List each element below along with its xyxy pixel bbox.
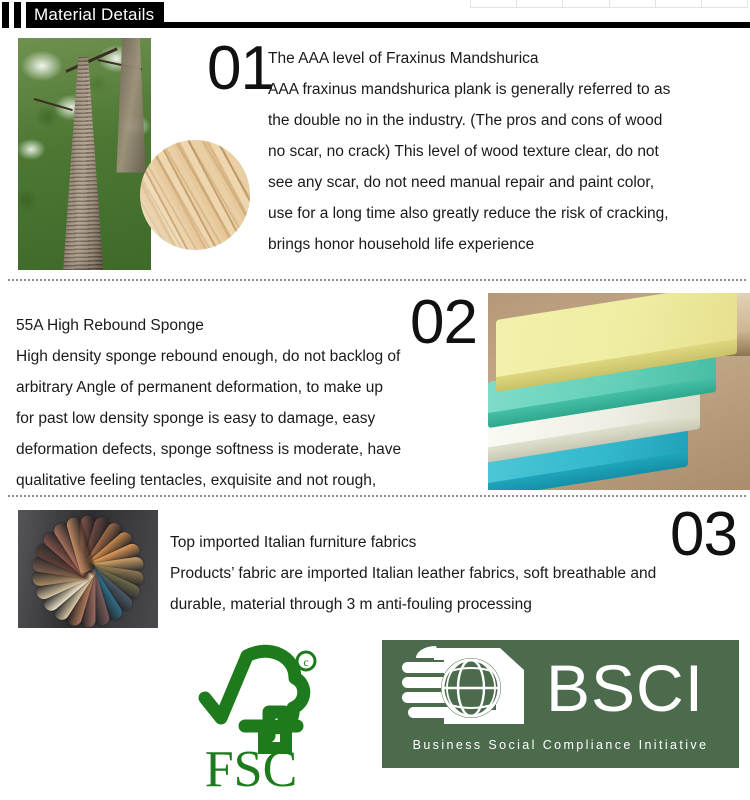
block-01-line-2: the double no in the industry. (The pros… [268,105,662,136]
block-02-line-3: for past low density sponge is easy to d… [16,403,375,434]
svg-text:c: c [303,655,308,669]
bsci-hand-globe-icon [400,644,538,732]
block-03-heading: Top imported Italian furniture fabrics [170,527,416,558]
block-01-heading: The AAA level of Fraxinus Mandshurica [268,43,539,74]
section-divider-1 [8,279,746,281]
page-title: Material Details [34,2,154,28]
block-01-line-6: brings honor household life experience [268,229,534,260]
block-03-line-1: Products’ fabric are imported Italian le… [170,558,656,589]
fsc-logo: c FSC [185,640,340,790]
fsc-wordmark: FSC [205,741,298,790]
material-details-page: Material Details 01 The AAA level of Fra… [0,0,750,800]
bsci-wordmark: BSCI [546,655,704,721]
block-01-line-1: AAA fraxinus mandshurica plank is genera… [268,74,670,105]
block-02-line-5: qualitative feeling tentacles, exquisite… [16,465,376,496]
block-number-03: 03 [670,504,737,566]
section-header: Material Details [0,2,750,28]
block-02-heading: 55A High Rebound Sponge [16,310,204,341]
block-02-line-4: deformation defects, sponge softness is … [16,434,401,465]
bsci-logo-row: BSCI [382,642,739,734]
block-number-01: 01 [207,38,274,100]
leather-fabric-swatch-fan-photo [18,510,158,628]
block-02-line-1: High density sponge rebound enough, do n… [16,341,400,372]
block-01-line-3: no scar, no crack) This level of wood te… [268,136,659,167]
header-rule [140,22,750,28]
foam-sponge-slabs-photo [488,293,750,490]
fsc-tree-checkmark-icon: c FSC [185,640,340,790]
bsci-logo: BSCI Business Social Compliance Initiati… [382,640,739,768]
block-number-02: 02 [410,292,477,354]
header-accent-bar-1 [2,2,9,28]
header-accent-bar-2 [14,2,21,28]
bsci-tagline: Business Social Compliance Initiative [382,738,739,752]
fsc-copyright-icon: c [297,652,315,670]
block-01-line-5: use for a long time also greatly reduce … [268,198,669,229]
section-divider-2 [8,495,746,497]
block-02-line-2: arbitrary Angle of permanent deformation… [16,372,383,403]
wood-grain-circle [140,140,250,250]
ash-tree-photo [18,38,151,270]
block-03-line-2: durable, material through 3 m anti-fouli… [170,589,532,620]
block-01-line-4: see any scar, do not need manual repair … [268,167,654,198]
